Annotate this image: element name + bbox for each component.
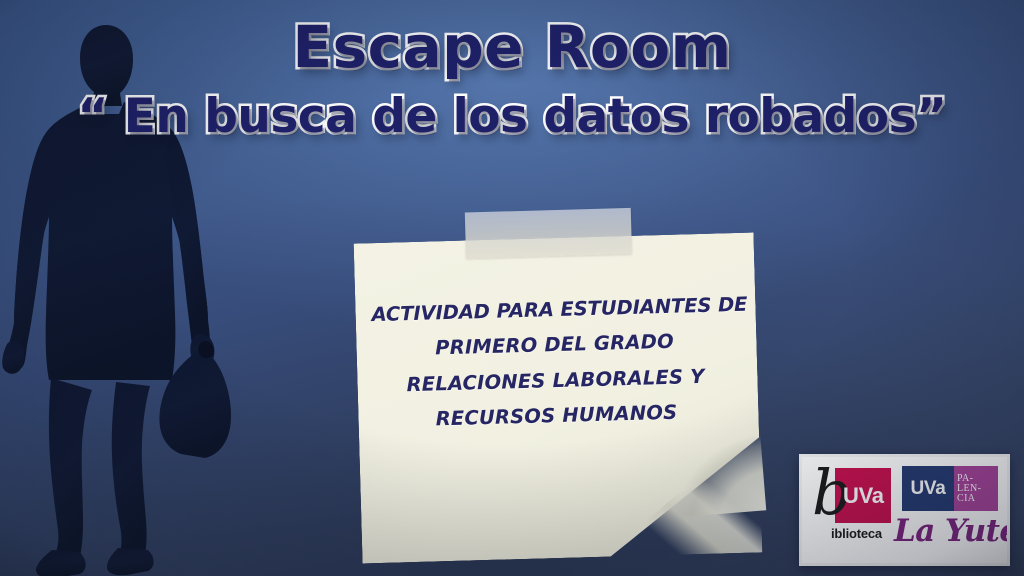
note-text-block: ACTIVIDAD PARA ESTUDIANTES DE PRIMERO DE… — [371, 287, 739, 439]
la-yutera-wordmark: La Yutera — [894, 513, 1010, 549]
biblioteca-uva-logo: b UVa iblioteca — [810, 466, 902, 554]
adhesive-tape — [465, 208, 632, 259]
poster-canvas: Escape Room “ En busca de los datos roba… — [0, 0, 1024, 576]
palencia-line-2: LEN- — [957, 484, 981, 494]
uva-palencia-logo: UVa PA- LEN- CIA — [902, 466, 998, 511]
library-logo-card: b UVa iblioteca UVa PA- LEN- CIA La Yute… — [799, 454, 1010, 566]
logo-inner: b UVa iblioteca UVa PA- LEN- CIA La Yute… — [802, 457, 1007, 563]
palencia-line-3: CIA — [957, 494, 975, 504]
la-yutera-name: Yutera — [945, 513, 1010, 549]
palencia-line-1: PA- — [957, 474, 973, 484]
walking-man-silhouette — [0, 14, 240, 576]
uva-navy-text: UVa — [910, 478, 945, 500]
biblioteca-word-text: iblioteca — [831, 526, 882, 541]
palencia-purple-block: PA- LEN- CIA — [954, 466, 998, 511]
biblioteca-uva-text: UVa — [843, 483, 884, 509]
la-yutera-article: La — [894, 513, 935, 549]
uva-navy-block: UVa — [902, 466, 954, 511]
note-paper: ACTIVIDAD PARA ESTUDIANTES DE PRIMERO DE… — [354, 232, 763, 563]
